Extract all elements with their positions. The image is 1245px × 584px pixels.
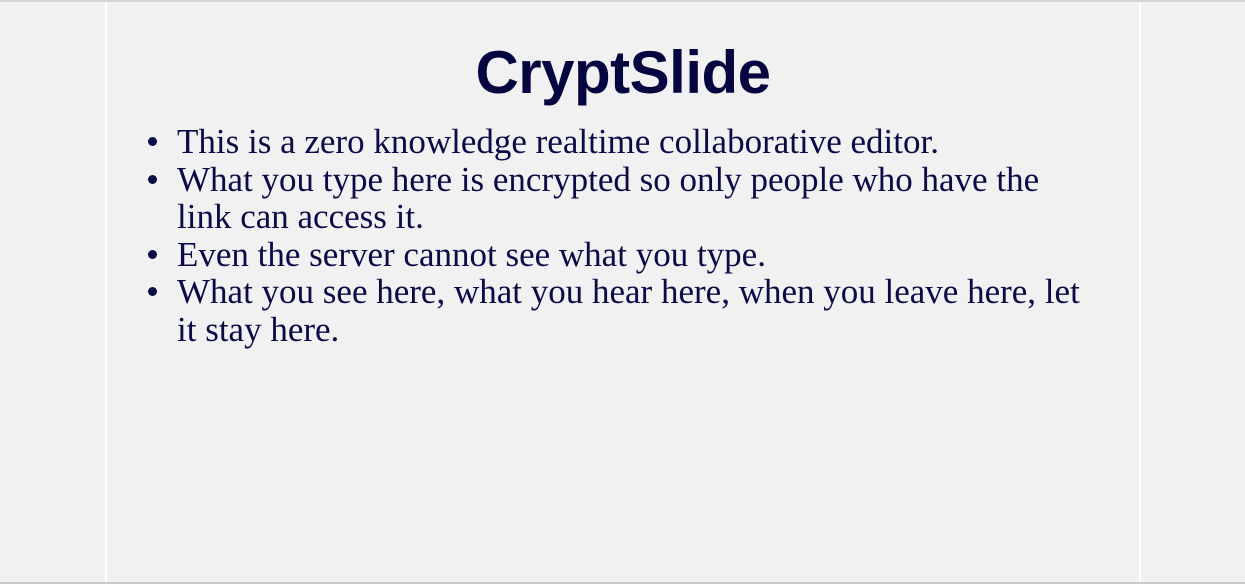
- bullet-point-icon: [148, 287, 157, 296]
- bullet-item[interactable]: Even the server cannot see what you type…: [107, 236, 1139, 274]
- slide-right-border: [1139, 2, 1141, 582]
- slide-title[interactable]: CryptSlide: [107, 2, 1139, 103]
- slide-viewer: CryptSlide This is a zero knowledge real…: [0, 0, 1245, 584]
- bullet-item[interactable]: What you type here is encrypted so only …: [107, 161, 1139, 236]
- bullet-item-text[interactable]: This is a zero knowledge realtime collab…: [177, 122, 939, 161]
- bullet-point-icon: [148, 250, 157, 259]
- bullet-item[interactable]: This is a zero knowledge realtime collab…: [107, 123, 1139, 161]
- slide-canvas[interactable]: CryptSlide This is a zero knowledge real…: [107, 2, 1139, 582]
- bullet-item-text[interactable]: What you see here, what you hear here, w…: [177, 272, 1080, 349]
- bullet-point-icon: [148, 137, 157, 146]
- bullet-point-icon: [148, 175, 157, 184]
- bullet-item-text[interactable]: What you type here is encrypted so only …: [177, 160, 1039, 237]
- slide-bullet-list: This is a zero knowledge realtime collab…: [107, 123, 1139, 348]
- bullet-item[interactable]: What you see here, what you hear here, w…: [107, 273, 1139, 348]
- bullet-item-text[interactable]: Even the server cannot see what you type…: [177, 235, 766, 274]
- right-gutter: [1140, 2, 1245, 582]
- left-gutter: [0, 2, 105, 582]
